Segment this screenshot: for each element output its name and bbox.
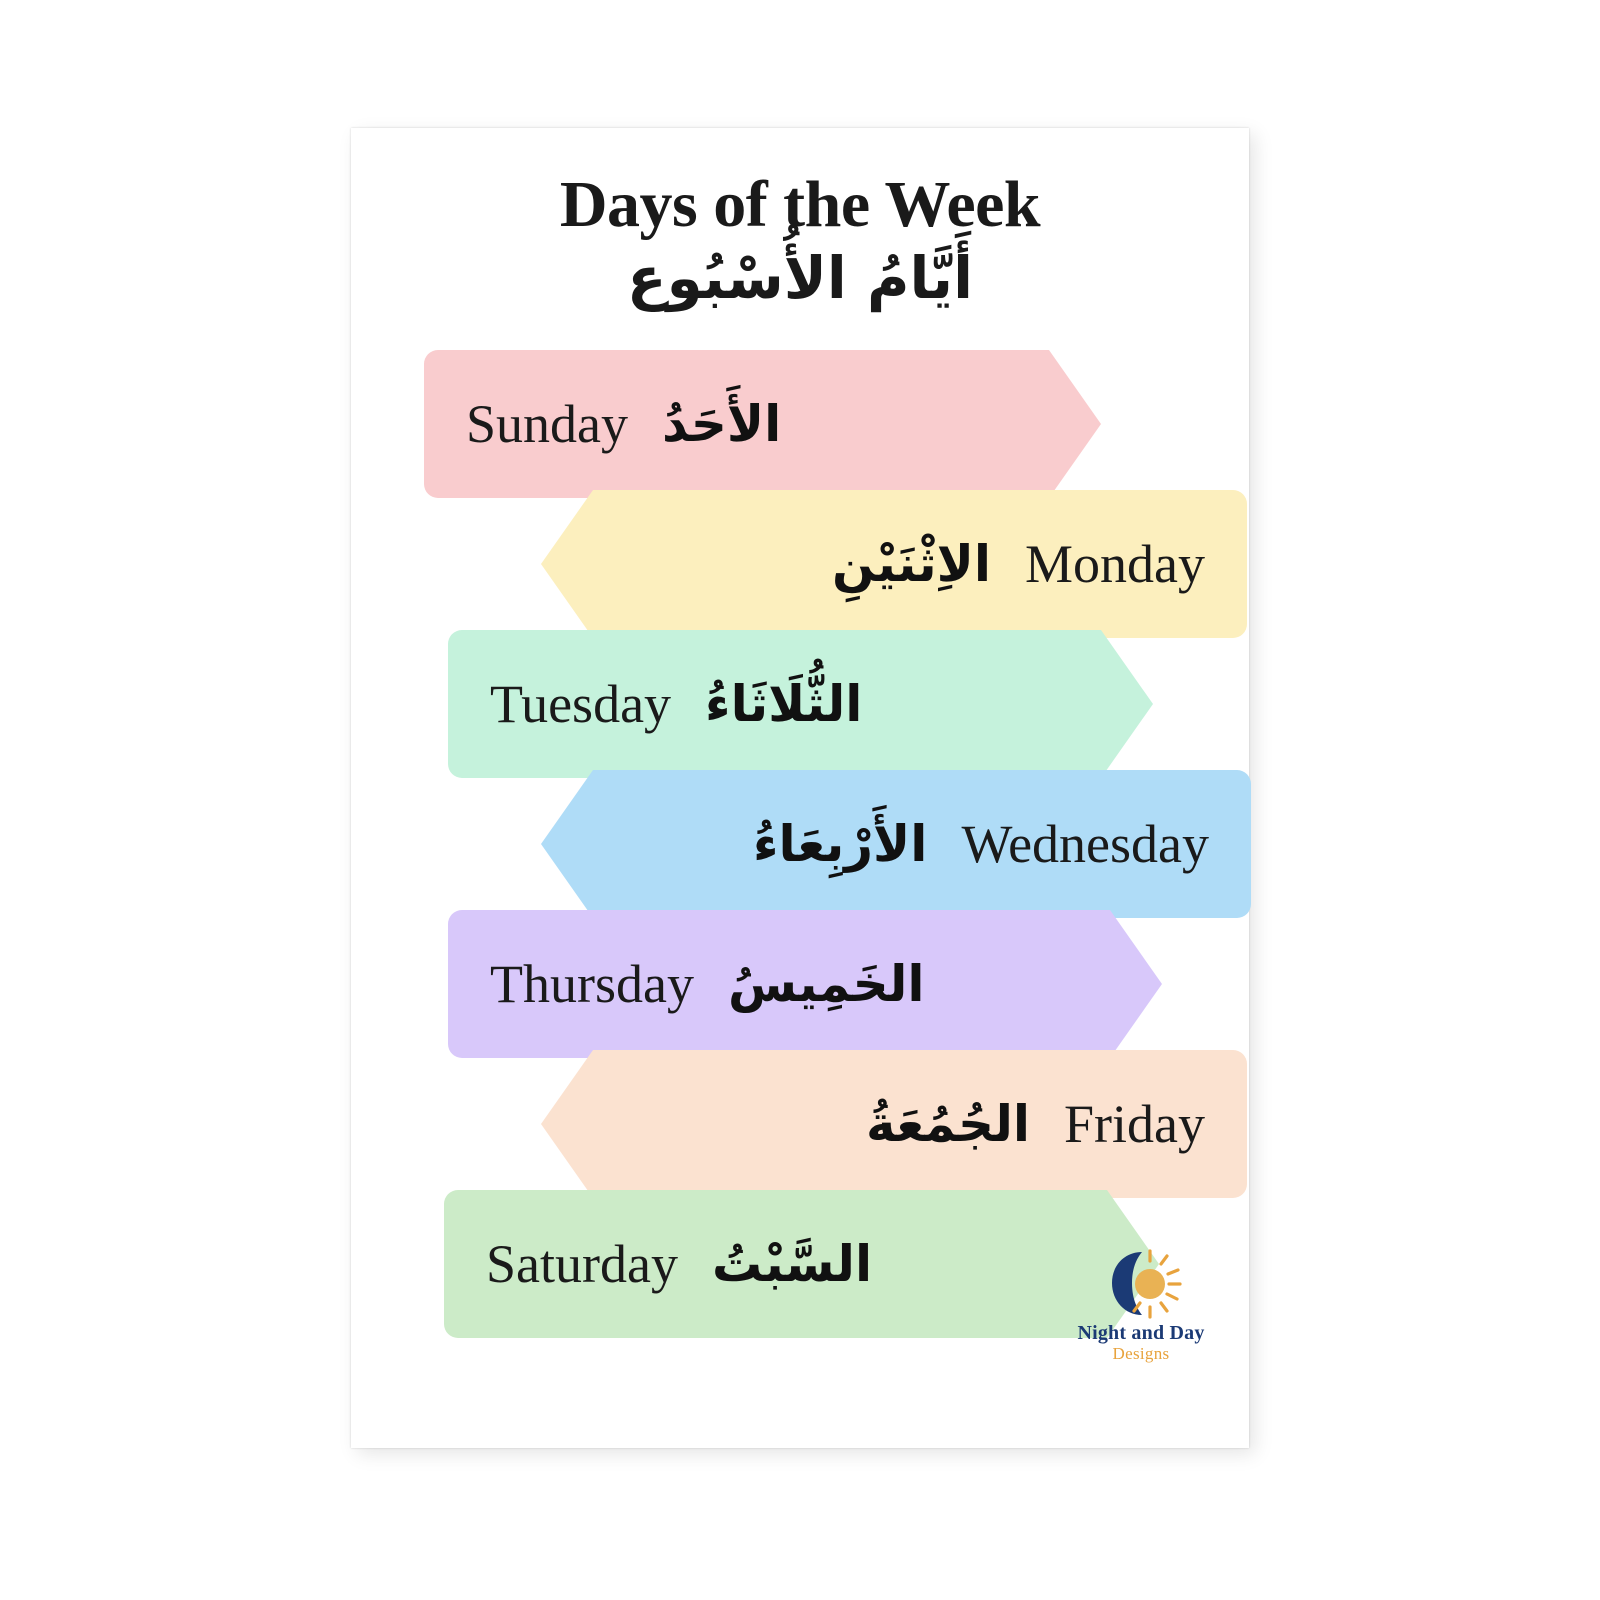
day-banner-monday: الاِثْنَيْنِ Monday	[541, 490, 1247, 638]
day-label-arabic: الأَحَدُ	[662, 393, 781, 456]
day-row-content: الاِثْنَيْنِ Monday	[832, 533, 1205, 596]
day-banner-wednesday: الأَرْبِعَاءُ Wednesday	[541, 770, 1251, 918]
brand-subtitle: Designs	[1051, 1344, 1231, 1364]
brand-name: Night and Day	[1051, 1322, 1231, 1344]
day-label-english: Thursday	[490, 957, 694, 1011]
day-banner-sunday: Sunday الأَحَدُ	[424, 350, 1101, 498]
day-label-arabic: الأَرْبِعَاءُ	[753, 813, 928, 876]
day-label-english: Sunday	[466, 397, 628, 451]
brand-logo: Night and Day Designs	[1051, 1248, 1231, 1364]
day-row-content: Thursday الخَمِيسُ	[490, 953, 925, 1016]
day-label-english: Tuesday	[490, 677, 671, 731]
day-banner-tuesday: Tuesday الثُّلَاثَاءُ	[448, 630, 1153, 778]
poster-sheet: Days of the Week أَيَّامُ الأُسْبُوع Sun…	[351, 128, 1249, 1448]
day-label-english: Monday	[1025, 537, 1205, 591]
day-label-english: Wednesday	[961, 817, 1209, 871]
day-row-content: الجُمُعَةُ Friday	[866, 1093, 1205, 1156]
day-label-arabic: الاِثْنَيْنِ	[832, 533, 991, 596]
day-label-english: Saturday	[486, 1237, 678, 1291]
day-row-content: الأَرْبِعَاءُ Wednesday	[753, 813, 1209, 876]
day-label-english: Friday	[1064, 1097, 1205, 1151]
crescent-moon-and-sun-icon	[1098, 1248, 1184, 1320]
day-row-content: Tuesday الثُّلَاثَاءُ	[490, 673, 862, 736]
day-row-content: Sunday الأَحَدُ	[466, 393, 781, 456]
day-label-arabic: السَّبْتُ	[712, 1233, 872, 1296]
day-row-content: Saturday السَّبْتُ	[486, 1233, 872, 1296]
day-banner-friday: الجُمُعَةُ Friday	[541, 1050, 1247, 1198]
day-label-arabic: الخَمِيسُ	[728, 953, 925, 1016]
day-label-arabic: الثُّلَاثَاءُ	[705, 673, 862, 736]
day-banner-thursday: Thursday الخَمِيسُ	[448, 910, 1162, 1058]
day-label-arabic: الجُمُعَةُ	[866, 1093, 1030, 1156]
